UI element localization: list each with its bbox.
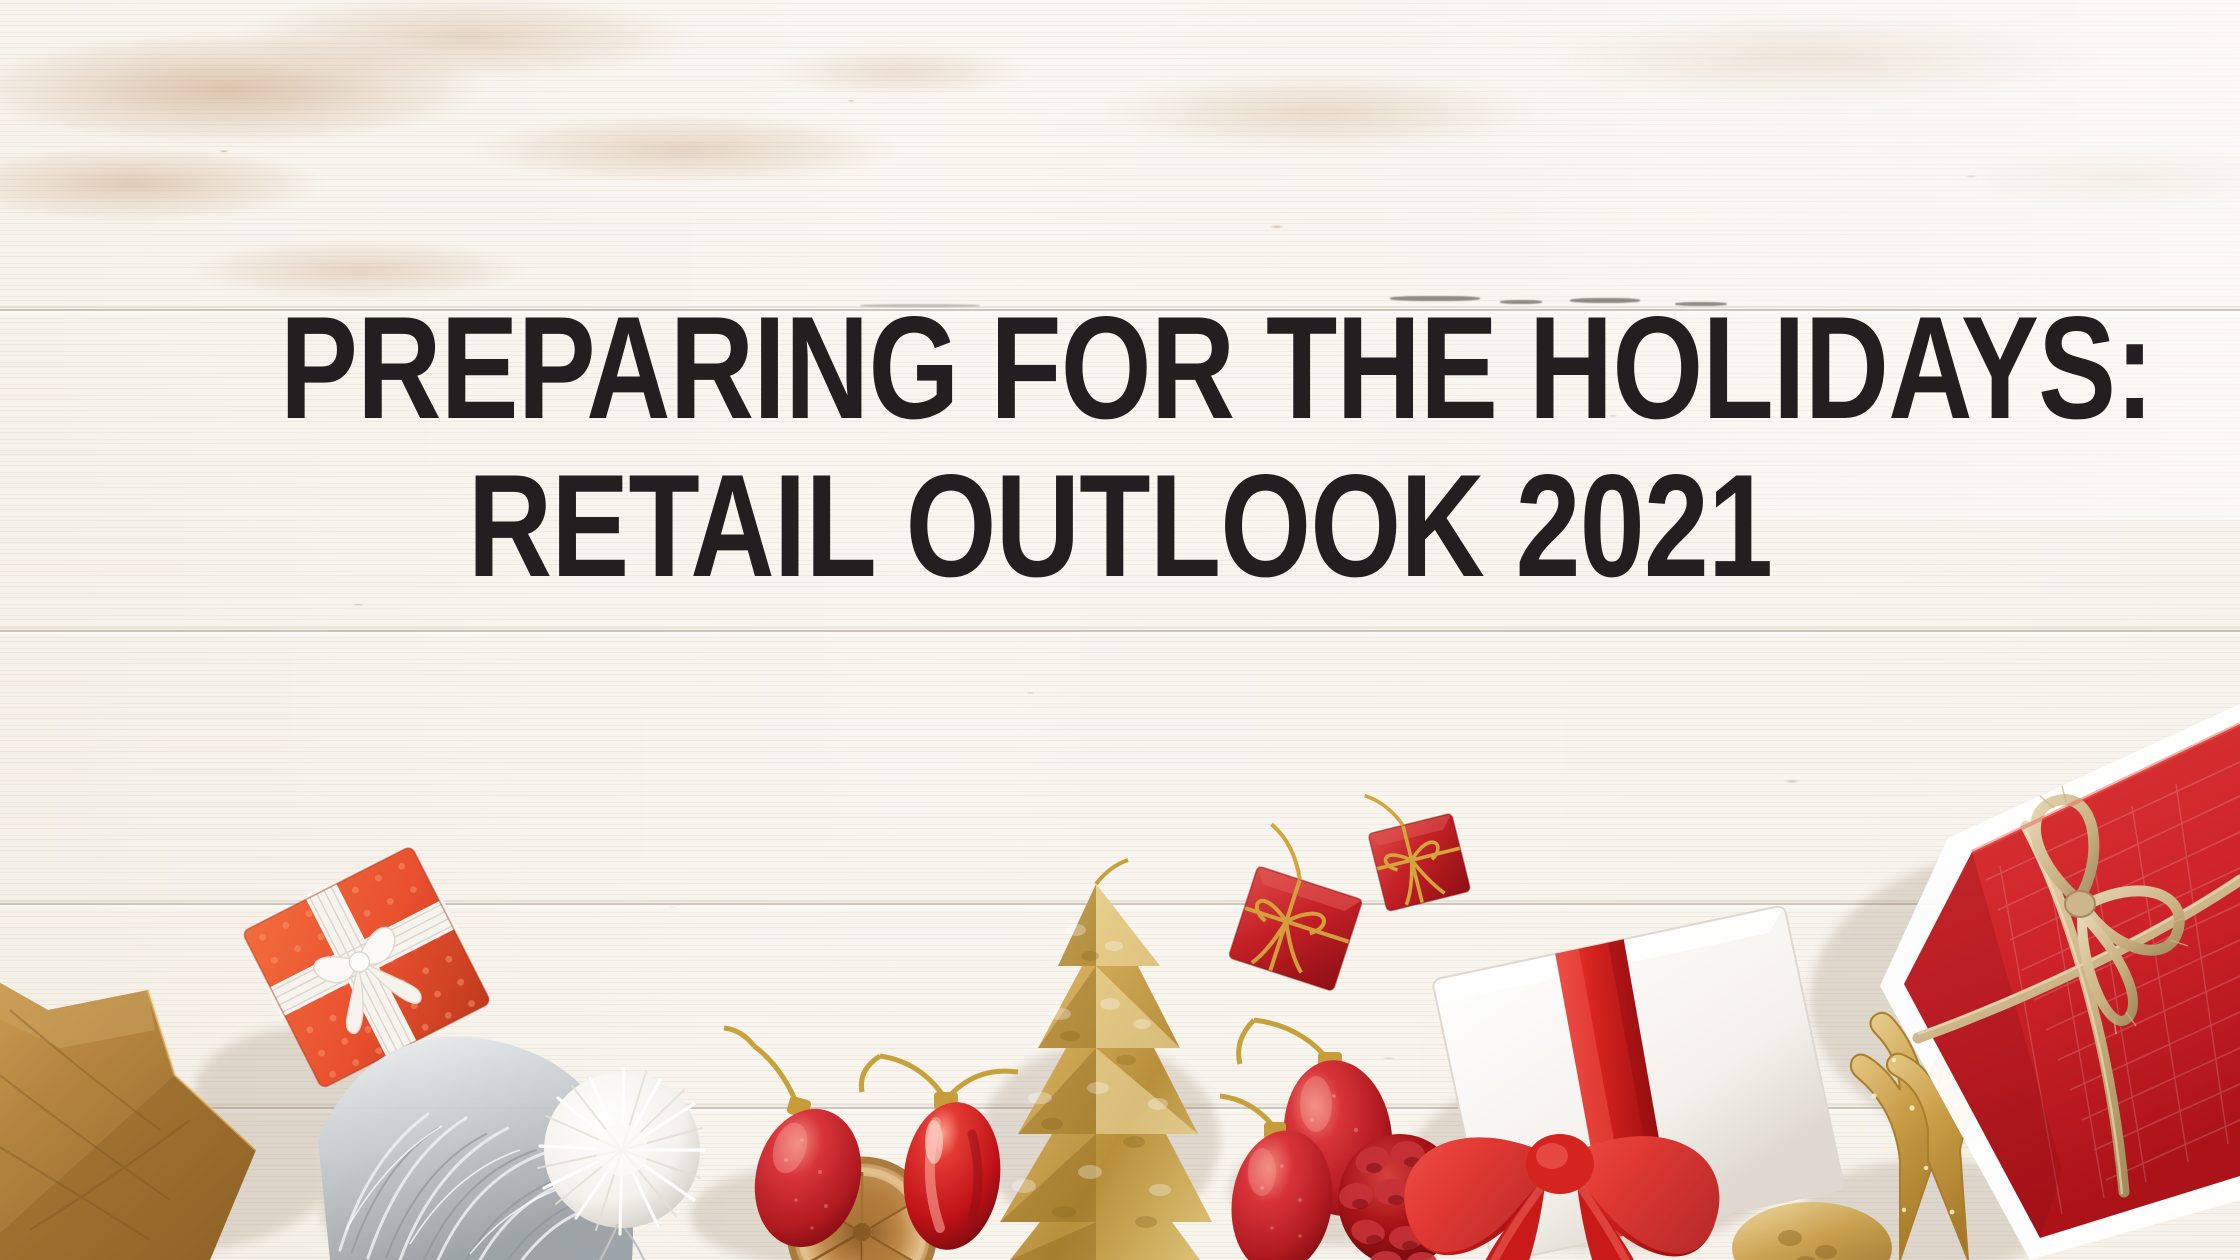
title-line-1: PREPARING FOR THE HOLIDAYS: — [280, 300, 1960, 436]
banner-title: PREPARING FOR THE HOLIDAYS: RETAIL OUTLO… — [0, 300, 2240, 594]
title-line-2: RETAIL OUTLOOK 2021 — [280, 458, 1960, 594]
banner-stage: PREPARING FOR THE HOLIDAYS: RETAIL OUTLO… — [0, 0, 2240, 1260]
